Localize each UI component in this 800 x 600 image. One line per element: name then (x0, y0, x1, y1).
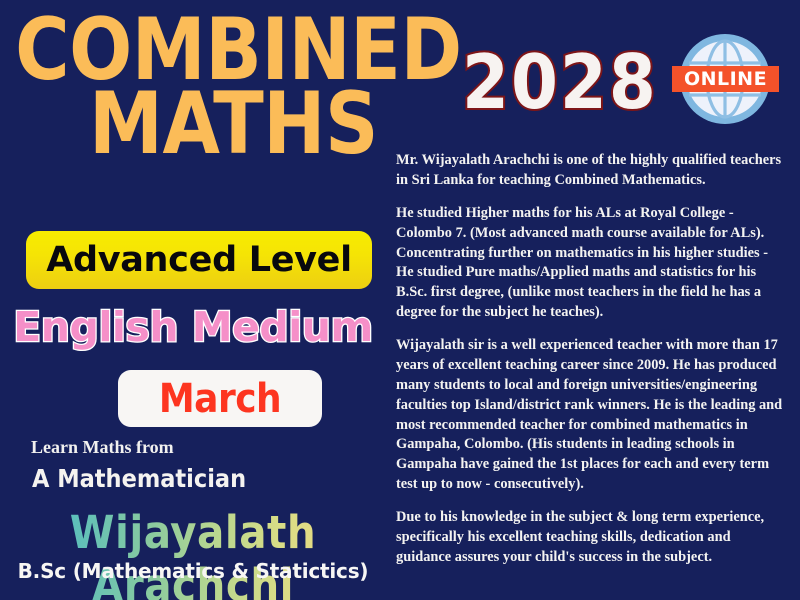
month-badge: March (118, 370, 322, 427)
bio-paragraph: Due to his knowledge in the subject & lo… (396, 508, 786, 568)
course-poster: COMBINED MATHS Advanced Level English Me… (0, 0, 800, 600)
poster-left-column: COMBINED MATHS Advanced Level English Me… (0, 0, 392, 600)
advanced-level-badge: Advanced Level (26, 231, 372, 289)
page-title: COMBINED MATHS (0, 14, 378, 162)
title-line-maths: MATHS (15, 88, 378, 162)
bio-paragraph: Wijayalath sir is a well experienced tea… (396, 336, 786, 495)
medium-label: English Medium (0, 303, 386, 351)
bio-paragraph: He studied Higher maths for his ALs at R… (396, 204, 786, 323)
advanced-level-label: Advanced Level (46, 240, 352, 280)
teacher-bio: Mr. Wijayalath Arachchi is one of the hi… (396, 151, 786, 568)
tagline-line-2: A Mathematician (32, 464, 246, 493)
online-badge: ONLINE (672, 66, 779, 92)
bio-paragraph: Mr. Wijayalath Arachchi is one of the hi… (396, 151, 786, 191)
tagline-line-1: Learn Maths from (31, 437, 174, 458)
year-label: 2028 (462, 38, 658, 126)
online-label: ONLINE (684, 70, 767, 89)
month-label: March (159, 376, 281, 422)
teacher-degree: B.Sc (Mathematics & Statictics) (0, 559, 386, 583)
teacher-name: Wijayalath Arachchi (0, 506, 386, 600)
